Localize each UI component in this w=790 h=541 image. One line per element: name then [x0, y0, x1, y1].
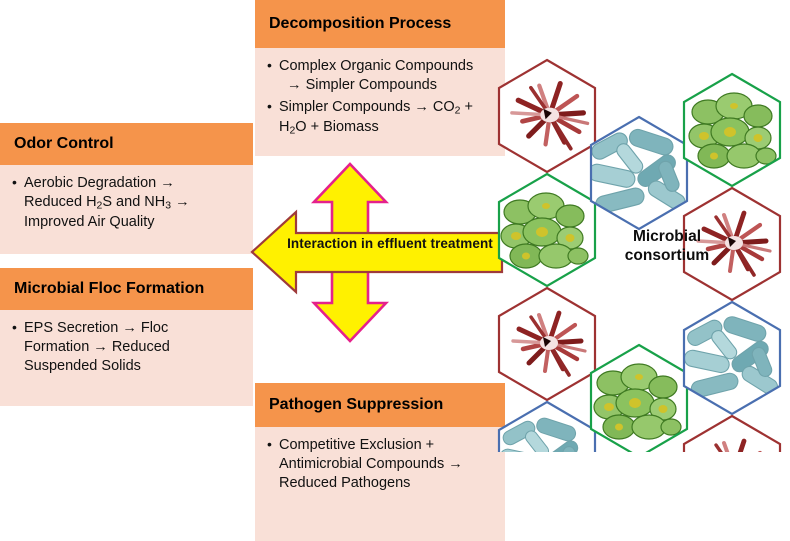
hex-cell-left-4	[499, 402, 595, 452]
hex-cell-right-3	[683, 302, 780, 414]
hex-cell-right-1	[684, 74, 780, 186]
panel-floc-body: EPS Secretion → FlocFormation → ReducedS…	[0, 310, 253, 406]
hex-cell-left-1	[499, 60, 595, 172]
consortium-label-line1: Microbial	[592, 228, 742, 247]
pathogen-bullet-1: Competitive Exclusion +Antimicrobial Com…	[267, 436, 493, 493]
panel-odor-body: Aerobic Degradation →Reduced H2S and NH3…	[0, 165, 253, 254]
panel-pathogen-body: Competitive Exclusion +Antimicrobial Com…	[255, 427, 505, 541]
odor-bullet-list: Aerobic Degradation →Reduced H2S and NH3…	[12, 174, 241, 232]
decomposition-bullet-list: Complex Organic Compounds → Simpler Comp…	[267, 57, 493, 138]
consortium-label-line2: consortium	[592, 247, 742, 266]
panel-floc-title: Microbial Floc Formation	[0, 268, 253, 310]
decomposition-bullet-2: Simpler Compounds → CO2 +H2O + Biomass	[267, 98, 493, 138]
hex-cell-middle-1	[587, 117, 688, 229]
hex-cell-right-4	[684, 416, 780, 452]
panel-odor-control: Odor Control Aerobic Degradation →Reduce…	[0, 123, 253, 254]
hex-cell-middle-3	[591, 345, 687, 452]
panel-decomposition-body: Complex Organic Compounds → Simpler Comp…	[255, 48, 505, 156]
interaction-arrow-cluster: Interaction in effluent treatment	[248, 160, 506, 345]
panel-decomposition-process: Decomposition Process Complex Organic Co…	[255, 0, 505, 156]
panel-pathogen-title: Pathogen Suppression	[255, 383, 505, 427]
hex-cell-left-3	[499, 288, 595, 400]
pathogen-bullet-list: Competitive Exclusion +Antimicrobial Com…	[267, 436, 493, 493]
hex-cell-left-2	[499, 174, 595, 286]
microbial-consortium-label: Microbial consortium	[592, 228, 742, 266]
odor-bullet-1: Aerobic Degradation →Reduced H2S and NH3…	[12, 174, 241, 232]
panel-pathogen-suppression: Pathogen Suppression Competitive Exclusi…	[255, 383, 505, 541]
panel-decomposition-title: Decomposition Process	[255, 0, 505, 48]
panel-microbial-floc-formation: Microbial Floc Formation EPS Secretion →…	[0, 268, 253, 406]
arrow-left-icon	[252, 212, 502, 292]
decomposition-bullet-1: Complex Organic Compounds → Simpler Comp…	[267, 57, 493, 95]
floc-bullet-1: EPS Secretion → FlocFormation → ReducedS…	[12, 319, 241, 376]
floc-bullet-list: EPS Secretion → FlocFormation → ReducedS…	[12, 319, 241, 376]
panel-odor-title: Odor Control	[0, 123, 253, 165]
